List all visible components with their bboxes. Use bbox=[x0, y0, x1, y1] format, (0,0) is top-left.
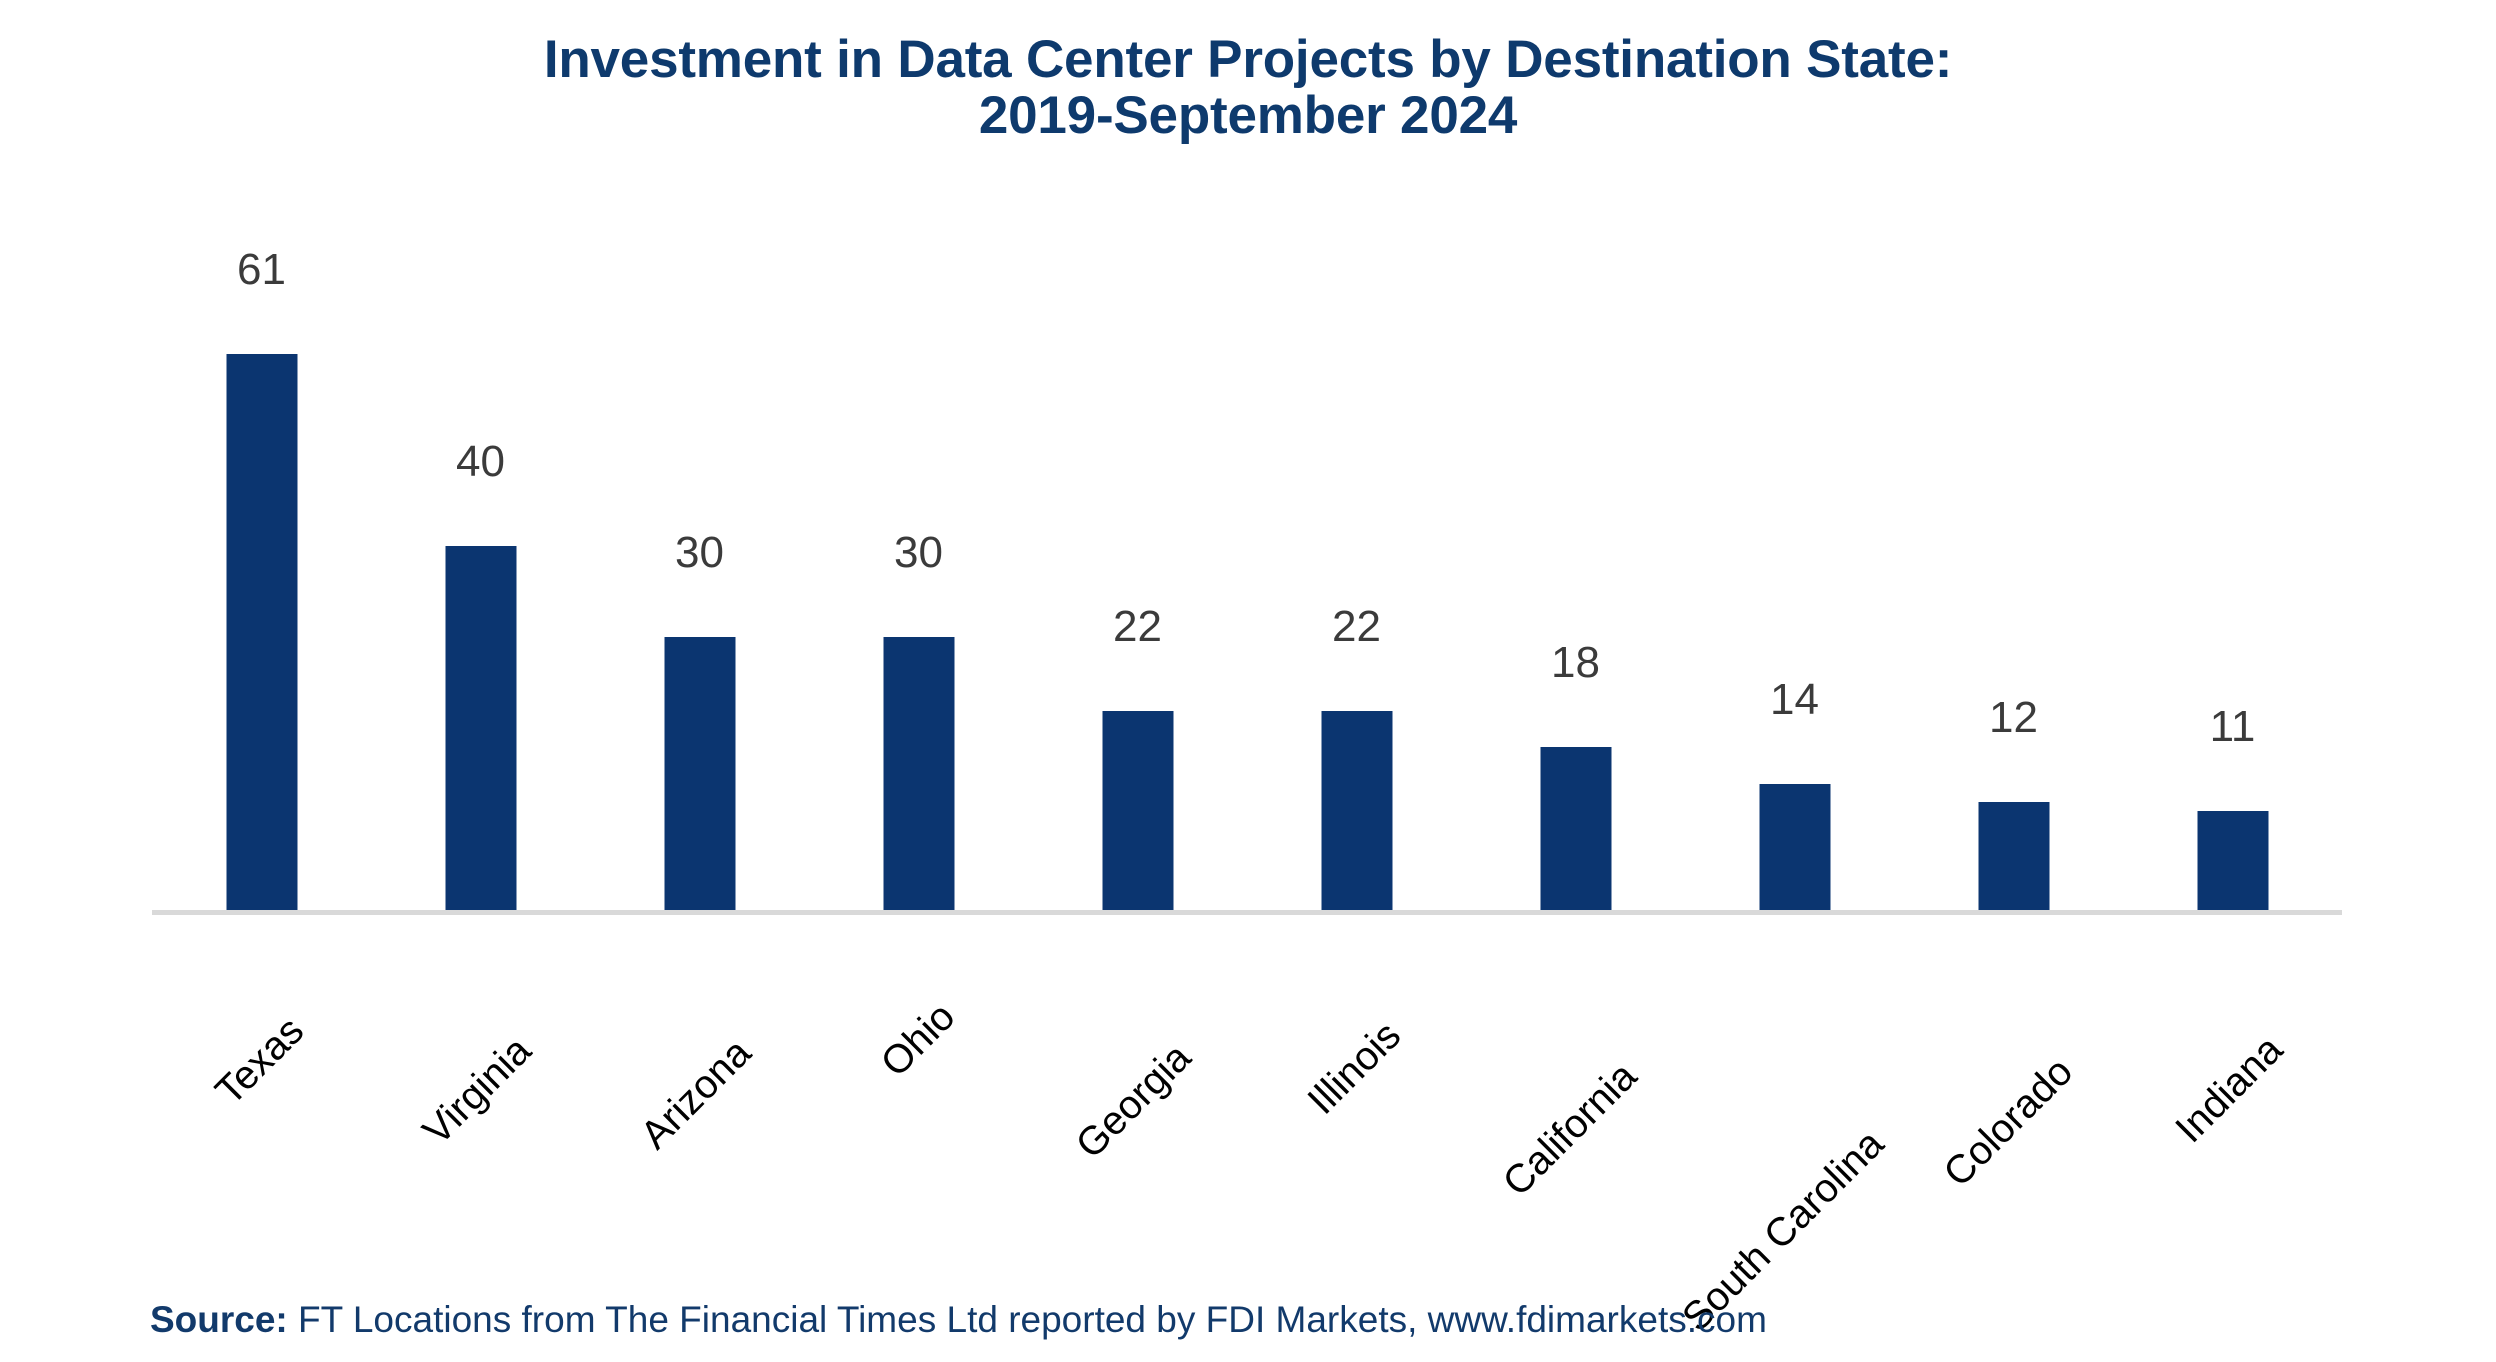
bar-value-label: 61 bbox=[237, 248, 286, 292]
x-axis-labels: Texas Virginia Arizona Ohio Georgia Illi… bbox=[152, 922, 2342, 1222]
bar-indiana[interactable] bbox=[2197, 811, 2268, 912]
chart-container: Investment in Data Center Projects by De… bbox=[0, 0, 2496, 1362]
bar-south-carolina[interactable] bbox=[1759, 784, 1830, 912]
x-axis-label-slot: Illinois bbox=[1247, 922, 1466, 1222]
x-axis-label-text: California bbox=[1496, 1055, 1644, 1203]
bar-slot: 11 bbox=[2123, 180, 2342, 912]
bar-slot: 61 bbox=[152, 180, 371, 912]
x-axis-label-slot: California bbox=[1466, 922, 1685, 1222]
bar-slot: 30 bbox=[809, 180, 1028, 912]
x-axis-label-text: Virginia bbox=[416, 1030, 538, 1152]
x-axis-label-slot: Arizona bbox=[590, 922, 809, 1222]
bar-ohio[interactable] bbox=[883, 637, 954, 912]
bar-slot: 12 bbox=[1904, 180, 2123, 912]
chart-title: Investment in Data Center Projects by De… bbox=[0, 32, 2496, 144]
bar-arizona[interactable] bbox=[664, 637, 735, 912]
bar-slot: 30 bbox=[590, 180, 809, 912]
bar-slot: 22 bbox=[1247, 180, 1466, 912]
bar-colorado[interactable] bbox=[1978, 802, 2049, 912]
source-text: FT Locations from The Financial Times Lt… bbox=[288, 1299, 1767, 1340]
bar-texas[interactable] bbox=[226, 354, 297, 912]
x-axis-label-slot: Ohio bbox=[809, 922, 1028, 1222]
x-axis-label-slot: Indiana bbox=[2123, 922, 2342, 1222]
bar-value-label: 14 bbox=[1770, 678, 1819, 722]
x-axis-label-text: Georgia bbox=[1069, 1037, 1198, 1166]
source-note: Source: FT Locations from The Financial … bbox=[150, 1300, 1767, 1341]
x-axis-label-texas: Texas bbox=[282, 936, 384, 1038]
x-axis-label-slot: Colorado bbox=[1904, 922, 2123, 1222]
x-axis-label-ohio: Ohio bbox=[933, 936, 1021, 1024]
x-axis-label-text: Indiana bbox=[2168, 1029, 2289, 1150]
x-axis-label-text: Illinois bbox=[1300, 1015, 1407, 1122]
x-axis-label-text: Texas bbox=[208, 1010, 310, 1112]
chart-title-line-1: Investment in Data Center Projects by De… bbox=[0, 32, 2496, 88]
bar-slot: 40 bbox=[371, 180, 590, 912]
x-axis-label-text: Colorado bbox=[1936, 1051, 2079, 1194]
source-label: Source: bbox=[150, 1299, 288, 1340]
x-axis-label-slot: Georgia bbox=[1028, 922, 1247, 1222]
bar-value-label: 30 bbox=[894, 531, 943, 575]
x-axis-line bbox=[152, 910, 2342, 915]
chart-title-line-2: 2019-September 2024 bbox=[0, 88, 2496, 144]
bar-slot: 14 bbox=[1685, 180, 1904, 912]
x-axis-label-text: Ohio bbox=[873, 996, 961, 1084]
bar-california[interactable] bbox=[1540, 747, 1611, 912]
bar-value-label: 40 bbox=[456, 440, 505, 484]
bar-value-label: 22 bbox=[1113, 605, 1162, 649]
bar-value-label: 18 bbox=[1551, 641, 1600, 685]
bar-virginia[interactable] bbox=[445, 546, 516, 912]
x-axis-label-text: Arizona bbox=[633, 1032, 757, 1156]
bar-value-label: 11 bbox=[2210, 705, 2256, 749]
plot-area: 61 40 30 30 22 22 bbox=[152, 180, 2342, 915]
bar-slot: 22 bbox=[1028, 180, 1247, 912]
bar-value-label: 12 bbox=[1989, 696, 2038, 740]
bar-illinois[interactable] bbox=[1321, 711, 1392, 912]
x-axis-label-slot: Virginia bbox=[371, 922, 590, 1222]
bar-georgia[interactable] bbox=[1102, 711, 1173, 912]
bar-slot: 18 bbox=[1466, 180, 1685, 912]
bar-value-label: 22 bbox=[1332, 605, 1381, 649]
x-axis-label-slot: Texas bbox=[152, 922, 371, 1222]
bar-value-label: 30 bbox=[675, 531, 724, 575]
x-axis-label-slot: South Carolina bbox=[1685, 922, 1904, 1222]
x-axis-label-indiana: Indiana bbox=[2261, 936, 2382, 1057]
bars-layer: 61 40 30 30 22 22 bbox=[152, 180, 2342, 912]
